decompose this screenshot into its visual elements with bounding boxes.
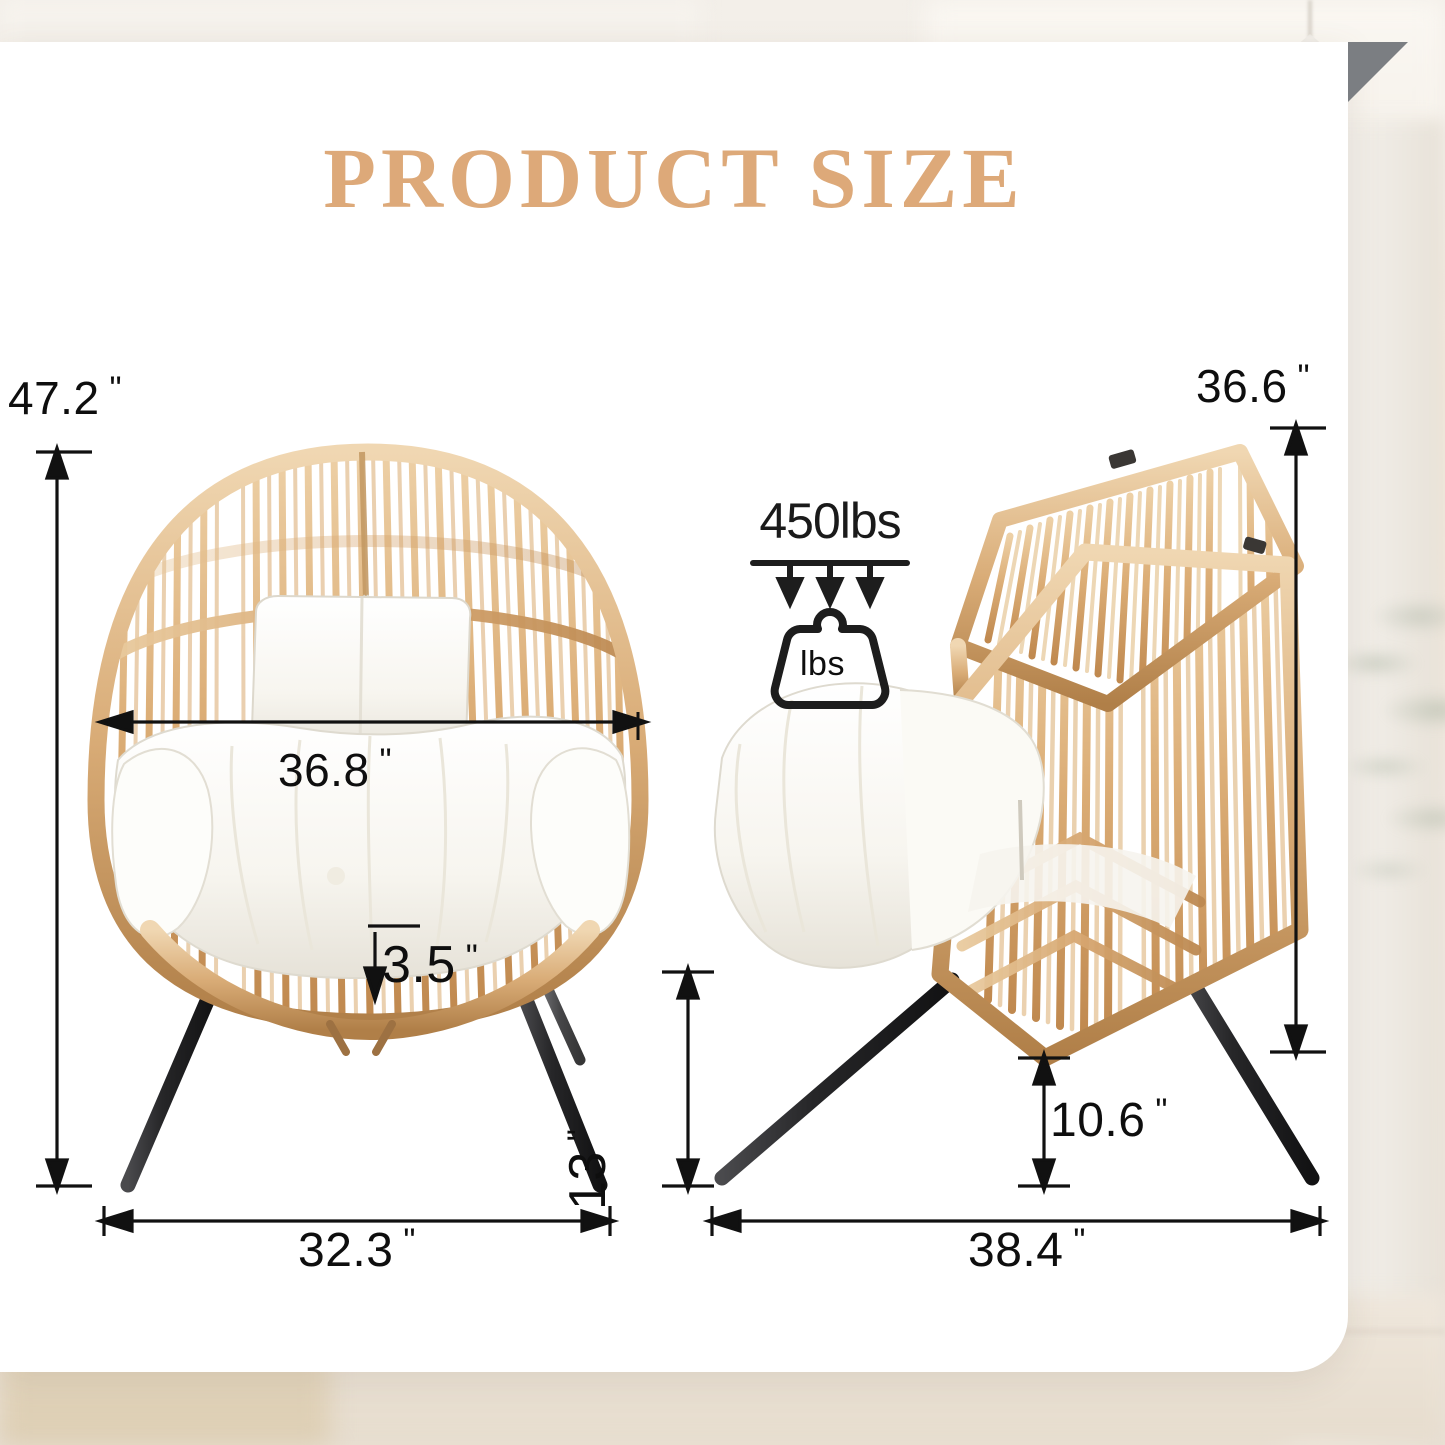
product-size-infographic: PRODUCT SIZE bbox=[0, 0, 1445, 1445]
weight-icon-label: lbs bbox=[800, 645, 845, 684]
dimension-label-back-height: 36.6 " bbox=[1196, 358, 1310, 413]
weight-divider-bar bbox=[750, 560, 910, 566]
weight-capacity-badge: 450lbs bbox=[745, 496, 915, 566]
dimension-label-seat-height: 13 " bbox=[558, 1129, 618, 1210]
dimension-label-overall-depth: 38.4 " bbox=[968, 1222, 1086, 1278]
dimension-label-seat-width: 36.8 " bbox=[278, 742, 392, 797]
page-title: PRODUCT SIZE bbox=[0, 128, 1348, 228]
dimension-label-clearance: 10.6 " bbox=[1050, 1092, 1168, 1148]
weight-capacity-label: 450lbs bbox=[745, 496, 915, 546]
dimension-label-overall-width: 32.3 " bbox=[298, 1222, 416, 1278]
product-card bbox=[0, 42, 1348, 1372]
folded-corner-icon bbox=[1348, 42, 1408, 102]
dimension-label-cushion-height: 3.5 " bbox=[382, 935, 478, 995]
dimension-label-overall-height: 47.2 " bbox=[8, 370, 122, 425]
